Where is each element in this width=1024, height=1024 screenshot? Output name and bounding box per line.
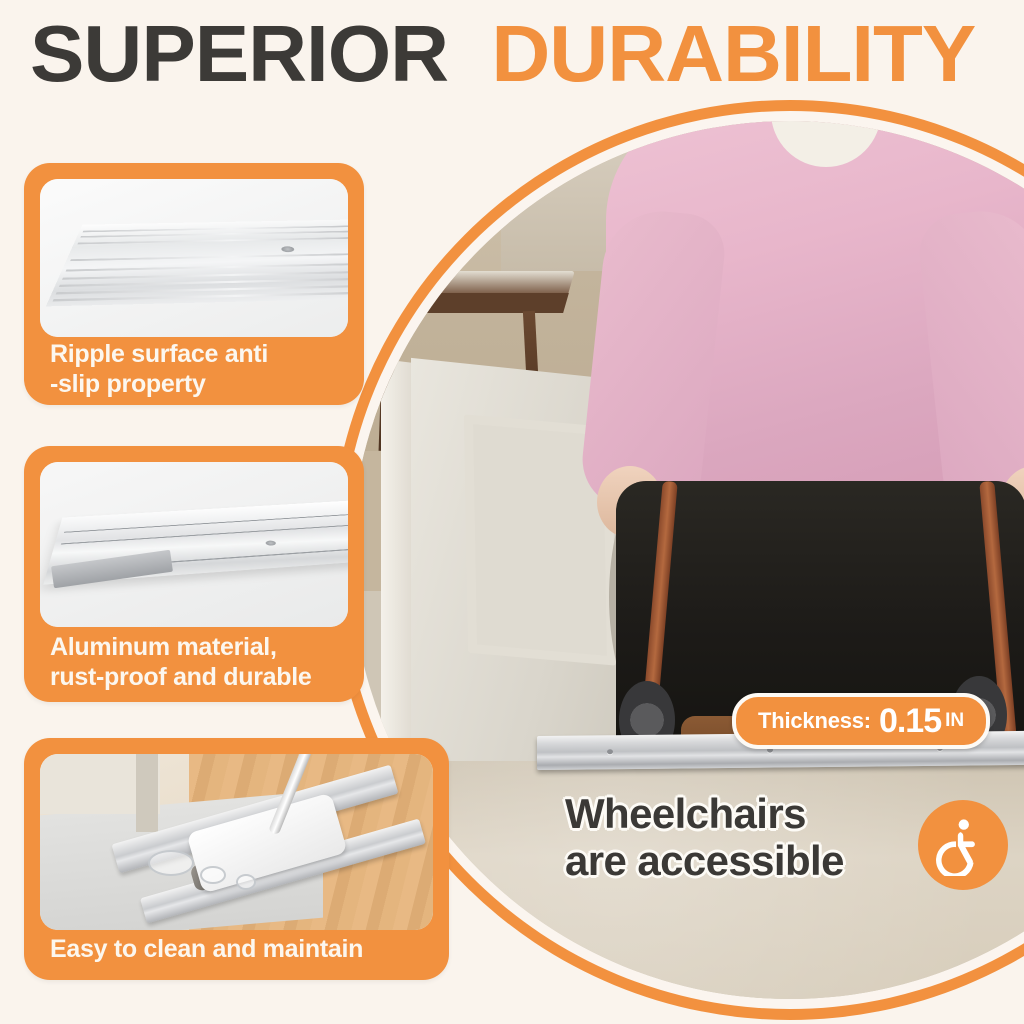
title-word-durability: DURABILITY (491, 9, 975, 98)
feature-card-3-caption-line1: Easy to clean and maintain (50, 934, 435, 964)
ramp-plate (46, 219, 348, 306)
feature-card-1-caption-line1: Ripple surface anti (50, 339, 350, 369)
feature-card-2-caption-line2: rust-proof and durable (50, 662, 350, 692)
wheelchair-icon (918, 800, 1008, 890)
feature-card-2-image (40, 462, 348, 627)
ramp-bolt (265, 540, 277, 546)
feature-card-aluminum-material[interactable]: Aluminum material, rust-proof and durabl… (24, 446, 364, 702)
feature-card-3-caption: Easy to clean and maintain (50, 934, 435, 964)
accessibility-callout: Wheelchairs are accessible (565, 790, 1024, 910)
feature-card-1-image (40, 179, 348, 337)
title-word-superior: SUPERIOR (30, 9, 448, 98)
thickness-badge-label: Thickness: (758, 708, 871, 734)
feature-card-ripple-surface[interactable]: Ripple surface anti -slip property (24, 163, 364, 405)
water-droplet (236, 874, 256, 890)
feature-card-2-caption: Aluminum material, rust-proof and durabl… (50, 632, 350, 692)
accessibility-text-line1: Wheelchairs (565, 790, 905, 837)
page-title: SUPERIOR DURABILITY (30, 8, 1024, 100)
feature-card-3-image (40, 754, 433, 930)
thickness-badge-unit: IN (945, 710, 964, 732)
ripple-surface-illustration (40, 179, 348, 337)
aluminum-ramp-illustration (40, 462, 348, 627)
door-jamb-thumb (136, 754, 158, 832)
feature-card-1-caption-line2: -slip property (50, 369, 350, 399)
thickness-badge-value: 0.15 (879, 702, 941, 741)
feature-card-2-caption-line1: Aluminum material, (50, 632, 350, 662)
thickness-badge: Thickness: 0.15 IN (732, 693, 990, 749)
accessibility-text-line2: are accessible (565, 837, 905, 884)
feature-card-1-caption: Ripple surface anti -slip property (50, 339, 350, 399)
ramp-bolt (281, 246, 295, 252)
water-droplet (148, 850, 194, 876)
door-edge (381, 359, 415, 803)
infographic-canvas: SUPERIOR DURABILITY (0, 0, 1024, 1024)
feature-card-easy-clean[interactable]: Easy to clean and maintain (24, 738, 449, 980)
accessibility-text: Wheelchairs are accessible (565, 790, 905, 884)
water-droplet (200, 866, 226, 884)
ramp-screw (607, 749, 613, 754)
mop-cleaning-illustration (40, 754, 433, 930)
